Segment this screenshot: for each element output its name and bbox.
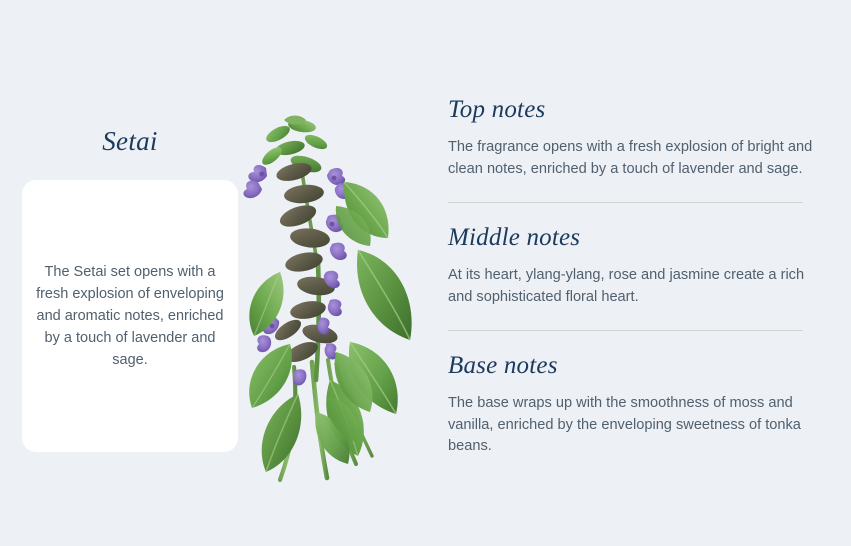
- note-block-top: Top notes The fragrance opens with a fre…: [448, 95, 823, 180]
- fragrance-notes-page: Setai The Setai set opens with a fresh e…: [0, 0, 851, 546]
- page-title: Setai: [0, 126, 260, 157]
- note-body-middle: At its heart, ylang-ylang, rose and jasm…: [448, 265, 822, 308]
- note-divider-1: [448, 202, 803, 203]
- note-divider-2: [448, 330, 803, 331]
- note-heading-middle: Middle notes: [448, 223, 823, 253]
- note-block-base: Base notes The base wraps up with the sm…: [448, 351, 823, 458]
- product-description-card: The Setai set opens with a fresh explosi…: [22, 180, 238, 452]
- sage-lavender-plant-image: [232, 112, 432, 487]
- note-block-middle: Middle notes At its heart, ylang-ylang, …: [448, 223, 823, 308]
- note-body-base: The base wraps up with the smoothness of…: [448, 393, 822, 458]
- plant-illustration-svg: [232, 112, 432, 487]
- product-description-text: The Setai set opens with a fresh explosi…: [36, 261, 224, 371]
- note-body-top: The fragrance opens with a fresh explosi…: [448, 137, 822, 180]
- note-heading-top: Top notes: [448, 95, 823, 125]
- fragrance-notes-column: Top notes The fragrance opens with a fre…: [448, 95, 823, 458]
- plant-flower-bracts: [272, 160, 340, 366]
- note-heading-base: Base notes: [448, 351, 823, 381]
- product-summary-column: Setai The Setai set opens with a fresh e…: [0, 0, 260, 546]
